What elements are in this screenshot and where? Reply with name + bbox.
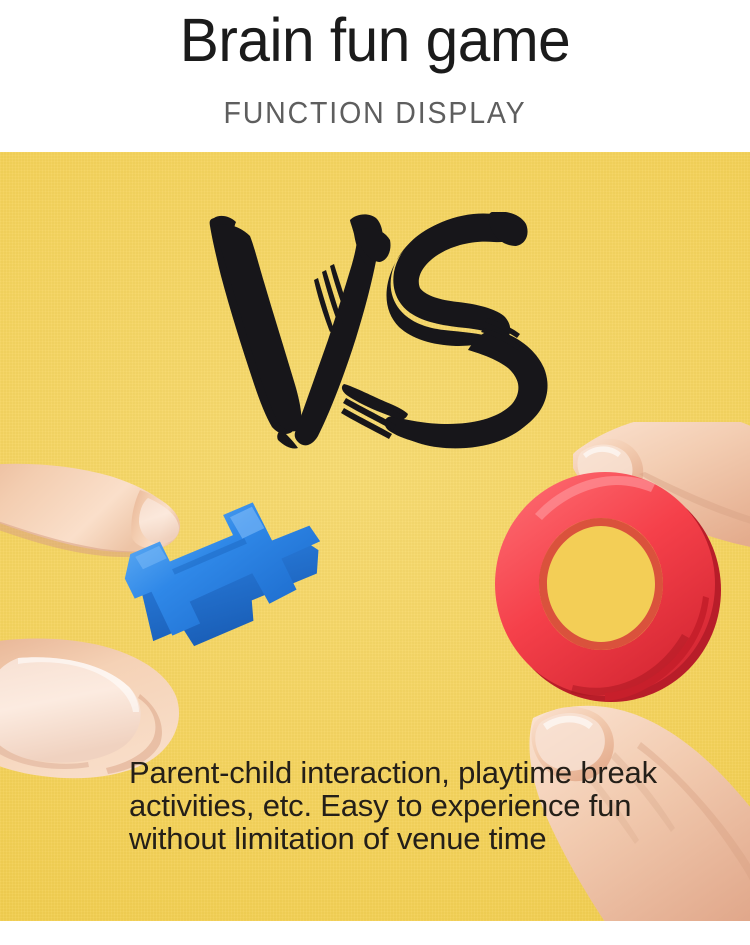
header-section: Brain fun game FUNCTION DISPLAY (0, 0, 750, 152)
product-banner: Brain fun game FUNCTION DISPLAY (0, 0, 750, 945)
page-title: Brain fun game (15, 4, 735, 76)
bottom-white-strip (0, 921, 750, 945)
page-subtitle: FUNCTION DISPLAY (30, 94, 720, 132)
caption-text: Parent-child interaction, playtime break… (129, 756, 749, 855)
caption-line-3: without limitation of venue time (129, 822, 749, 855)
product-photo: Parent-child interaction, playtime break… (0, 152, 750, 921)
caption-line-1: Parent-child interaction, playtime break (129, 756, 749, 789)
vs-brush-icon (200, 212, 580, 452)
caption-line-2: activities, etc. Easy to experience fun (129, 789, 749, 822)
